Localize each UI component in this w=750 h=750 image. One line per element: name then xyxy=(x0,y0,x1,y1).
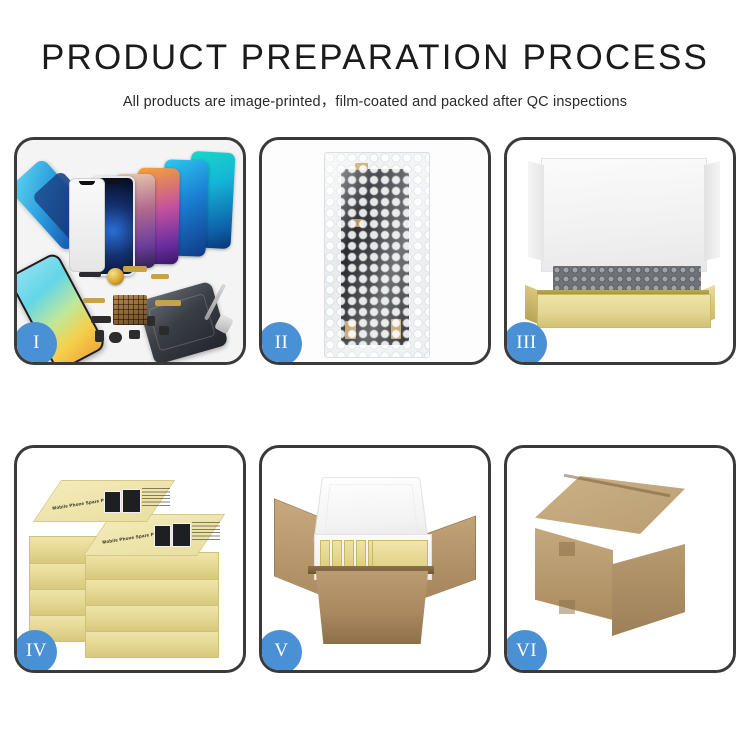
step-badge-3: III xyxy=(504,322,547,365)
gold-component-icon xyxy=(107,268,124,285)
page-root: PRODUCT PREPARATION PROCESS All products… xyxy=(0,0,750,750)
process-step-panel-5[interactable]: V xyxy=(259,445,491,673)
chip-grid-icon xyxy=(113,295,147,325)
step-badge-1: I xyxy=(14,322,57,365)
process-step-panel-2[interactable]: II xyxy=(259,137,491,365)
foam-lid-open-icon xyxy=(313,477,428,542)
process-step-panel-1[interactable]: I xyxy=(14,137,246,365)
step-badge-5: V xyxy=(259,630,302,673)
carton-handle-tab-icon xyxy=(559,542,575,556)
step-badge-2: II xyxy=(259,322,302,365)
step-badge-4: IV xyxy=(14,630,57,673)
process-step-panel-4[interactable]: Mobile Phone Spare Parts Mobile Phone Sp… xyxy=(14,445,246,673)
bubble-wrap-bag-icon xyxy=(324,152,430,358)
yellow-inner-box-icon xyxy=(537,294,711,328)
carton-body-icon xyxy=(308,570,436,644)
kraft-box-stack-icon: Mobile Phone Spare Parts Mobile Phone Sp… xyxy=(23,464,237,662)
process-step-grid: I II xyxy=(14,137,736,673)
carton-handle-tab-icon xyxy=(559,600,575,614)
process-step-panel-3[interactable]: III xyxy=(504,137,736,365)
page-subtitle: All products are image-printed，film-coat… xyxy=(0,90,750,111)
process-step-panel-6[interactable]: VI xyxy=(504,445,736,673)
foam-sheet-icon xyxy=(541,158,707,272)
page-title: PRODUCT PREPARATION PROCESS xyxy=(0,40,750,77)
step-badge-6: VI xyxy=(504,630,547,673)
header: PRODUCT PREPARATION PROCESS All products… xyxy=(0,0,750,111)
